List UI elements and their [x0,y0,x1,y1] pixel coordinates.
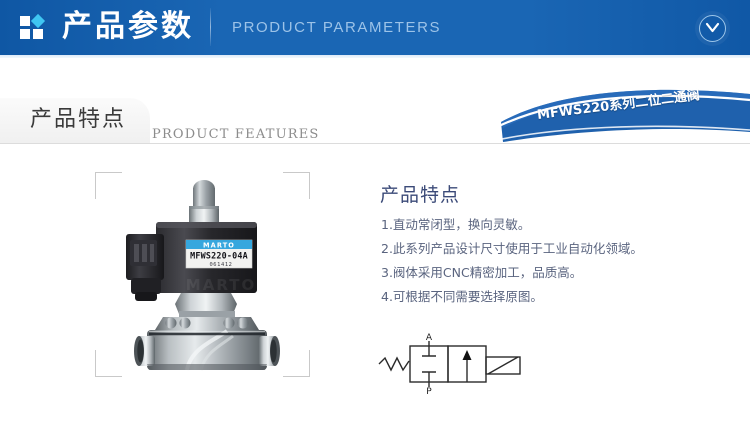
solenoid-valve-image: MARTO MFWS220-04A 061412 MARTO [109,178,299,374]
features-heading: 产品特点 [380,180,460,207]
section-title-en: PRODUCT FEATURES [152,127,320,142]
svg-text:MFWS220-04A: MFWS220-04A [190,251,248,261]
grid-squares-icon [20,16,46,40]
features-list: 1.直动常闭型，换向灵敏。 2.此系列产品设计尺寸使用于工业自动化领域。 3.阀… [381,213,721,309]
list-item: 2.此系列产品设计尺寸使用于工业自动化领域。 [381,237,721,261]
product-parameters-page: 产品参数 PRODUCT PARAMETERS 产品特点 PRODUCT FEA… [0,0,750,438]
svg-text:061412: 061412 [209,262,232,268]
page-title-cn: 产品参数 [62,7,194,47]
header-divider [210,8,211,46]
svg-text:MARTO: MARTO [186,276,256,294]
page-title-en: PRODUCT PARAMETERS [232,19,441,36]
valve-schematic-diagram: A P [375,333,545,395]
header-underline [0,55,750,58]
schematic-port-a-label: A [426,333,433,343]
schematic-port-p-label: P [426,387,432,395]
chevron-down-circle-icon[interactable] [699,15,726,42]
product-photo-frame: MARTO MFWS220-04A 061412 MARTO [95,172,310,377]
list-item: 4.可根据不同需要选择原图。 [381,285,721,309]
section-title-cn: 产品特点 [30,101,126,133]
series-ribbon: MFWS220系列二位二通阀 [495,88,750,144]
svg-text:MARTO: MARTO [203,242,235,250]
page-header: 产品参数 PRODUCT PARAMETERS [0,0,750,55]
list-item: 1.直动常闭型，换向灵敏。 [381,213,721,237]
list-item: 3.阀体采用CNC精密加工，品质高。 [381,261,721,285]
